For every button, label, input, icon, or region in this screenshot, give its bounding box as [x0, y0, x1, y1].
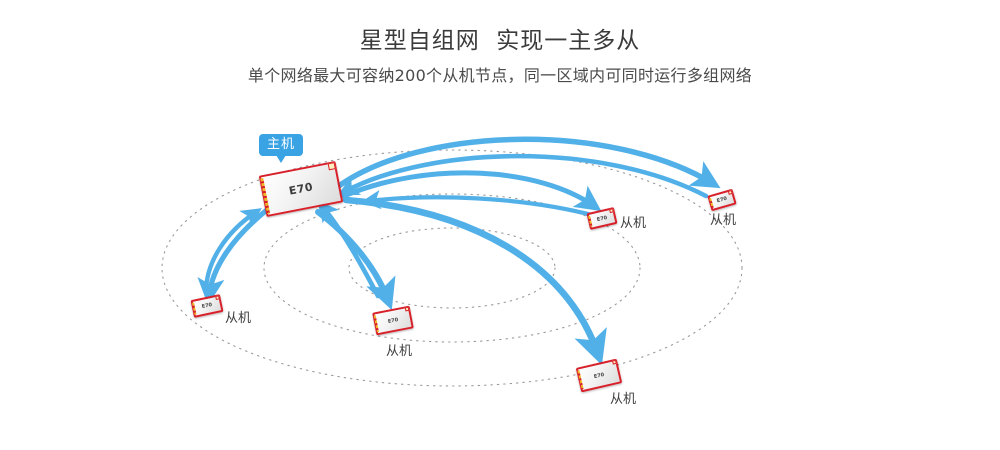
network-rings: [162, 150, 742, 386]
arrow-right-outer-to-master: [344, 156, 706, 196]
module-antenna-connector: [612, 360, 617, 365]
module-antenna-connector: [328, 162, 336, 170]
arrow-master-to-center-bottom: [318, 212, 388, 300]
ring-outer: [162, 150, 742, 386]
network-topology-graphic: [0, 0, 1000, 450]
slave-label-left-bottom: 从机: [225, 311, 251, 327]
slave-label-right-inner: 从机: [620, 216, 646, 232]
slave-label-bottom-right: 从机: [610, 392, 636, 408]
arrow-center-bottom-to-master: [322, 206, 378, 296]
diagram-canvas: 星型自组网 实现一主多从 单个网络最大可容纳200个从机节点，同一区域内可同时运…: [0, 0, 1000, 450]
module-antenna-connector: [405, 307, 410, 312]
master-badge: 主机: [259, 134, 303, 156]
slave-label-right-outer: 从机: [710, 213, 736, 229]
slave-label-center-bottom: 从机: [386, 344, 412, 360]
